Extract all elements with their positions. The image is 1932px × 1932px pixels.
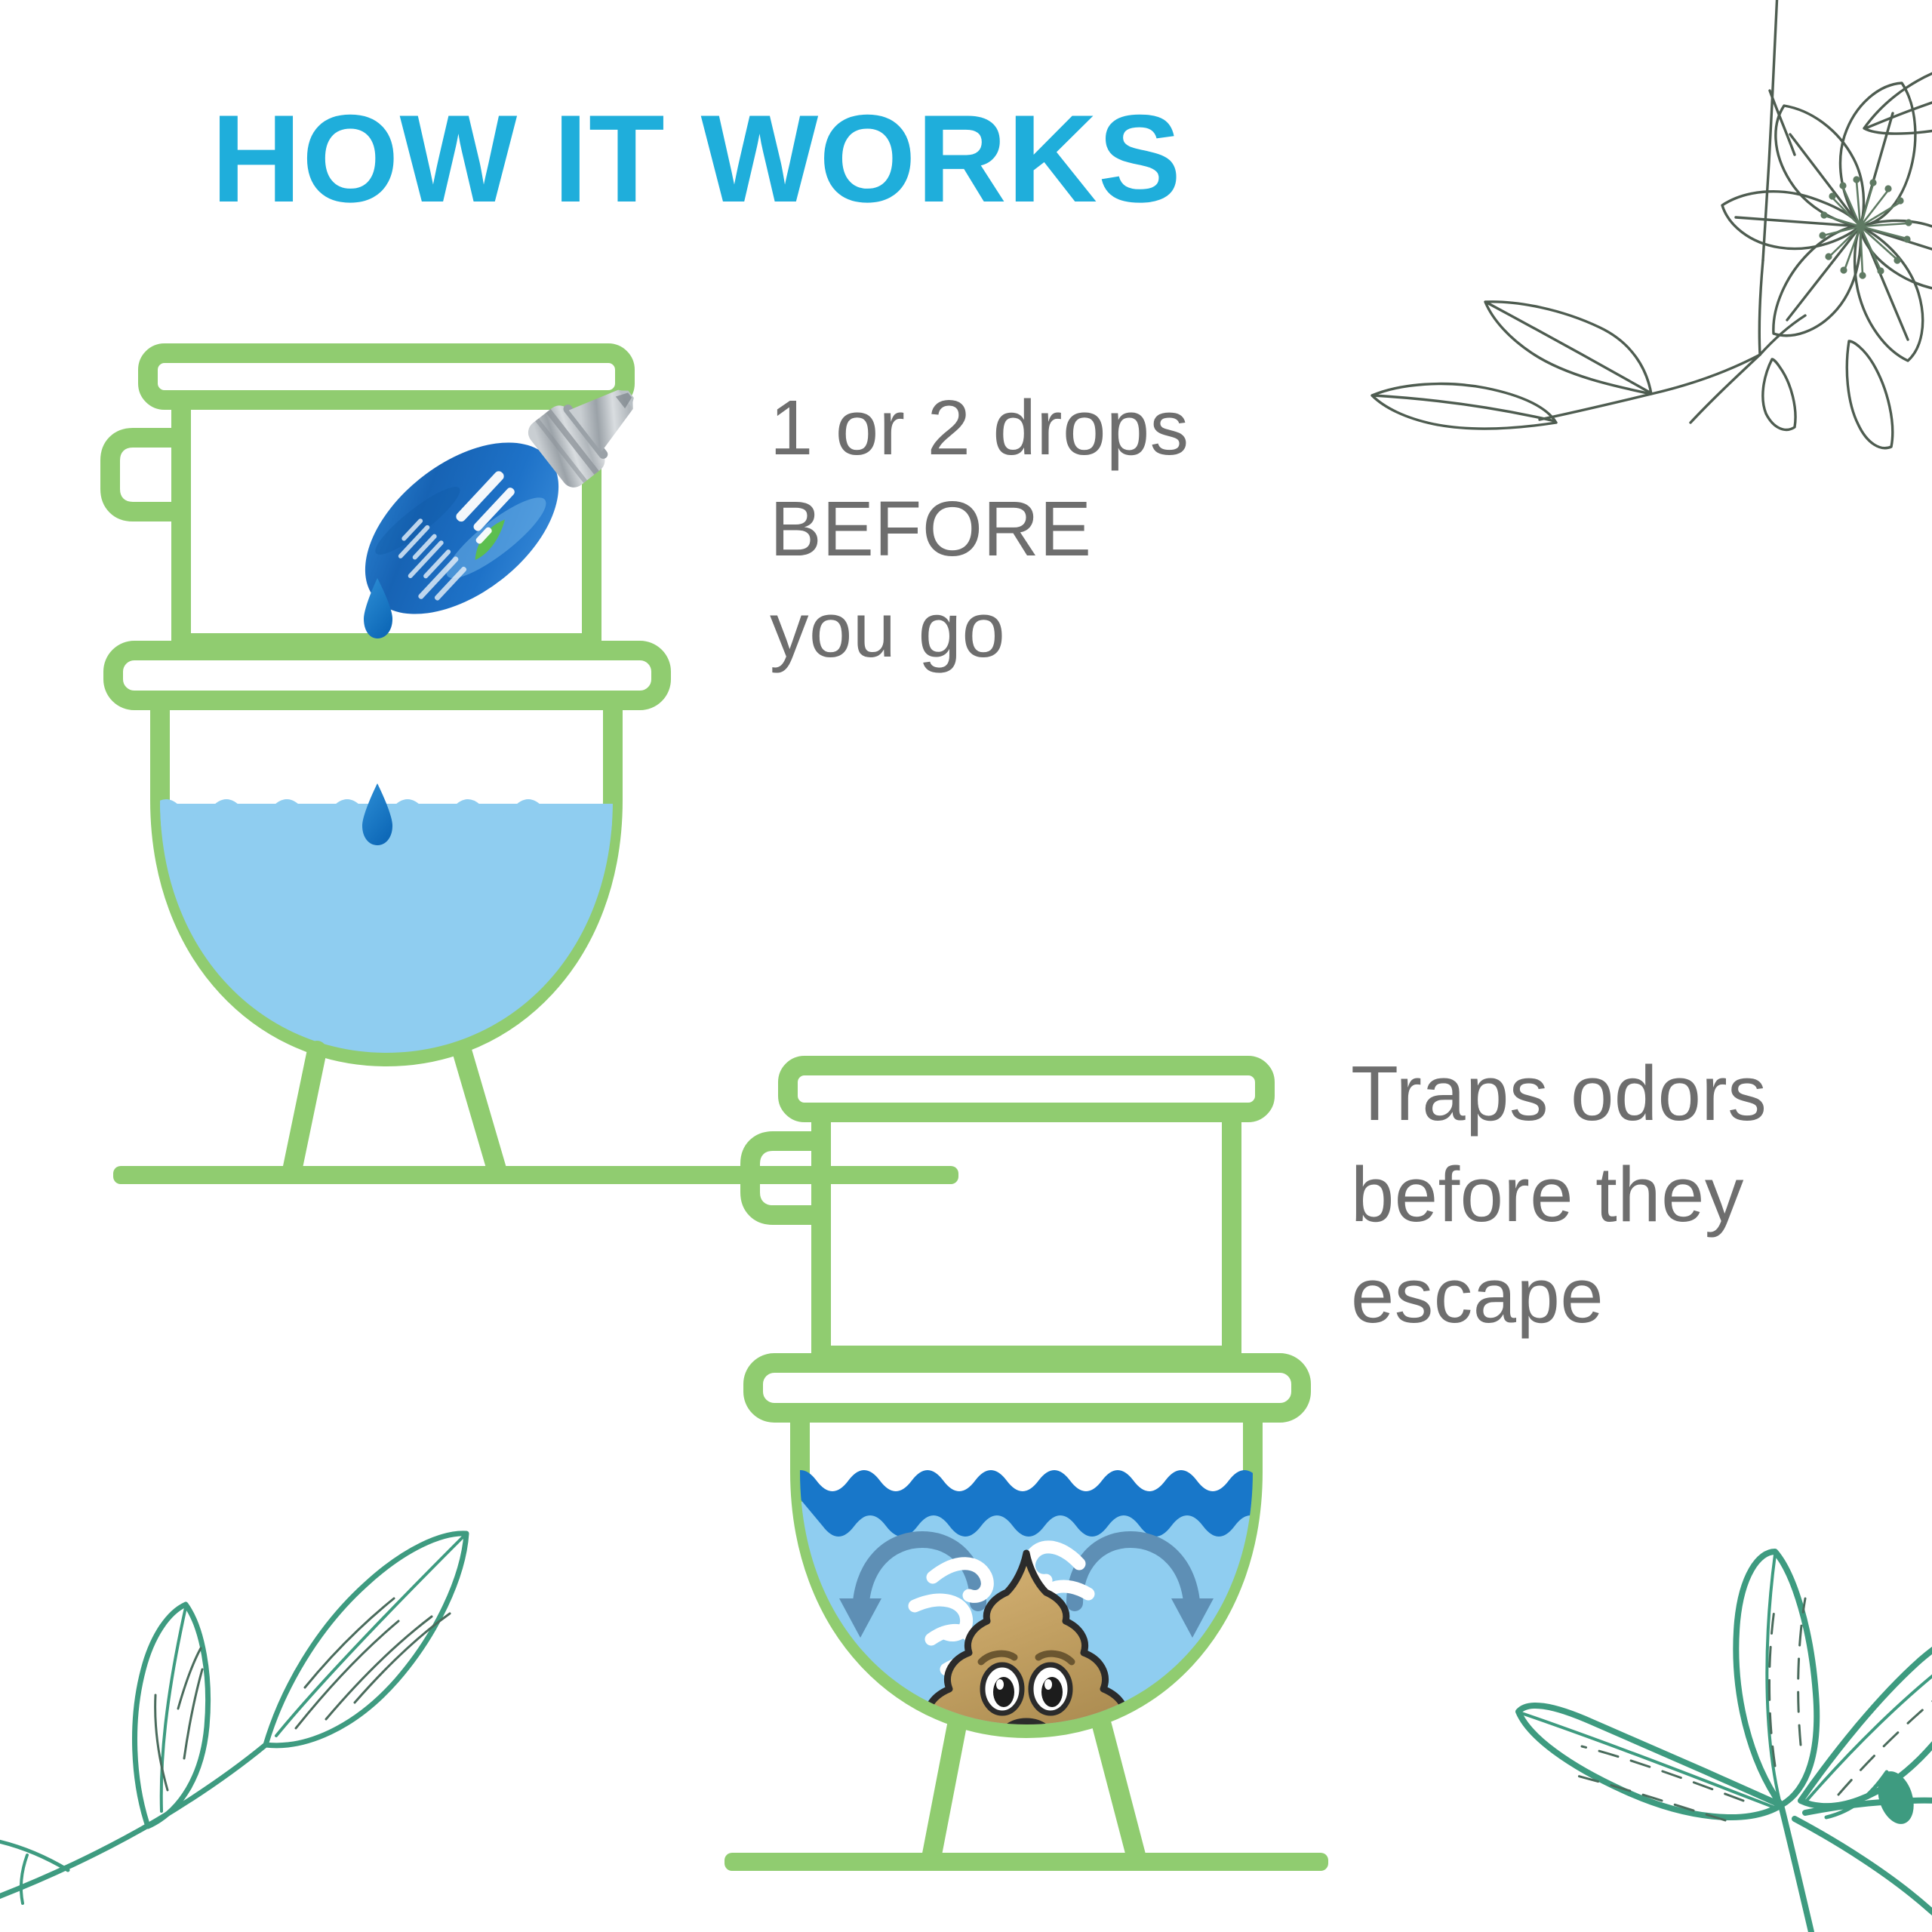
tank-body-2 [821, 1112, 1232, 1355]
toilet-pedestal [291, 1051, 498, 1174]
illustration-layer [0, 0, 1932, 1932]
botanical-flower-branch-icon [1372, 0, 1932, 448]
water-droplet-icon [362, 783, 392, 845]
toilet-seat-rim [113, 651, 661, 700]
tank-lid-2 [788, 1066, 1265, 1112]
botanical-lily-icon [1518, 1552, 1932, 1932]
infographic-canvas: HOW IT WORKS 1 or 2 drops BEFORE you go … [0, 0, 1932, 1932]
toilet-illustration-step-2 [750, 1066, 1301, 1858]
bowl-water [151, 799, 634, 1075]
botanical-leaf-sprig-icon [0, 1534, 466, 1903]
tank-lid [148, 353, 625, 400]
toilet-illustration-step-1 [110, 344, 672, 1174]
flush-handle [110, 438, 181, 512]
toilet-pedestal-2 [931, 1725, 1137, 1858]
toilet-seat-rim-2 [753, 1363, 1301, 1413]
